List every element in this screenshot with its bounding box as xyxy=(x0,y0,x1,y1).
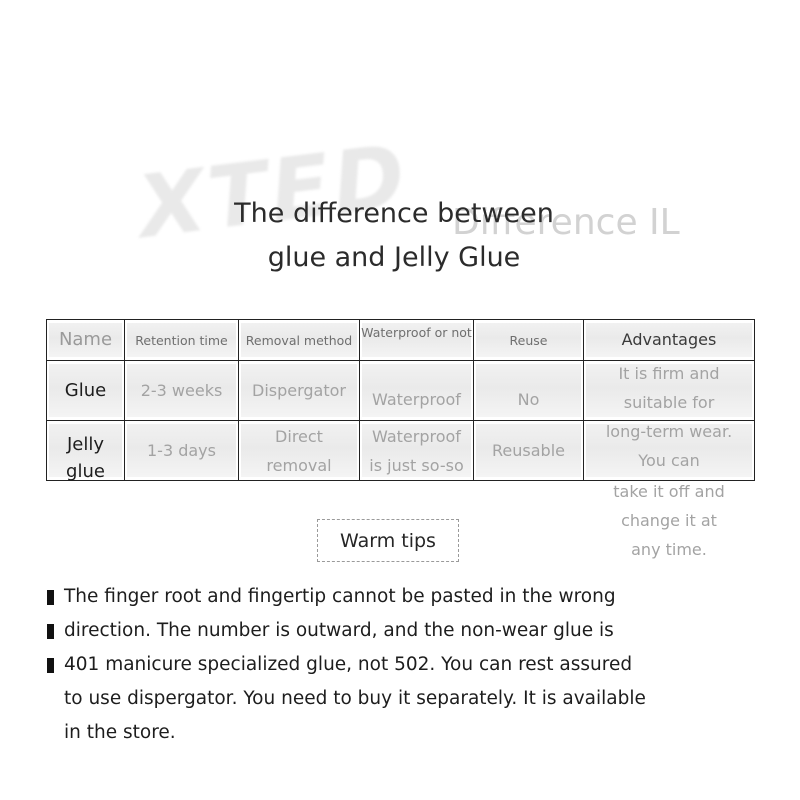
warm-tips-badge: Warm tips xyxy=(317,519,459,562)
value-removal-jelly-glue: Direct removal xyxy=(241,422,357,480)
table-header-cell-name: Name xyxy=(47,320,125,361)
cell-surface: long-term wear. You can take it off and … xyxy=(586,424,752,477)
cell-surface: Waterproof or not xyxy=(362,323,471,357)
infographic-page: XTED Difference IL The difference betwee… xyxy=(0,0,800,800)
cell-surface: It is firm and suitable for xyxy=(586,364,752,417)
tips-line: The finger root and fingertip cannot be … xyxy=(64,580,684,614)
table-header-cell-reuse: Reuse xyxy=(474,320,584,361)
cell-surface: Waterproof is just so-so xyxy=(362,424,471,477)
table-header-row: Name Retention time Removal method Water… xyxy=(47,320,755,361)
value-name-jelly-glue: Jelly glue xyxy=(47,431,124,485)
cell-surface: Reusable xyxy=(476,424,581,477)
table-header-cell-removal-method: Removal method xyxy=(239,320,360,361)
cell-surface: Name xyxy=(49,323,122,357)
header-label-name: Name xyxy=(49,327,122,353)
cell-retention-glue: 2-3 weeks xyxy=(125,361,239,421)
value-waterproof-glue: Waterproof xyxy=(360,385,473,414)
cell-advantages-glue: It is firm and suitable for xyxy=(584,361,755,421)
cell-advantages-jelly-glue: long-term wear. You can take it off and … xyxy=(584,421,755,481)
cell-surface: Jelly glue xyxy=(49,424,122,477)
tips-line-text: to use dispergator. You need to buy it s… xyxy=(64,688,646,709)
page-title: The difference between glue and Jelly Gl… xyxy=(100,192,688,280)
value-waterproof-jelly-glue: Waterproof is just so-so xyxy=(362,422,471,480)
table-header-cell-advantages: Advantages xyxy=(584,320,755,361)
tips-line: in the store. xyxy=(64,716,684,750)
tips-line-text: 401 manicure specialized glue, not 502. … xyxy=(64,654,632,675)
header-label-retention-time: Retention time xyxy=(127,332,236,349)
tips-line: 401 manicure specialized glue, not 502. … xyxy=(64,648,684,682)
value-retention-jelly-glue: 1-3 days xyxy=(127,436,236,465)
cell-waterproof-jelly-glue: Waterproof is just so-so xyxy=(360,421,474,481)
tips-line-text: direction. The number is outward, and th… xyxy=(64,620,614,641)
bullet-marker-icon xyxy=(47,590,54,605)
tips-line-text: in the store. xyxy=(64,722,176,743)
cell-reuse-jelly-glue: Reusable xyxy=(474,421,584,481)
tips-paragraph: The finger root and fingertip cannot be … xyxy=(64,580,684,750)
warm-tips-label: Warm tips xyxy=(340,530,436,552)
value-reuse-jelly-glue: Reusable xyxy=(476,436,581,465)
cell-surface: Dispergator xyxy=(241,364,357,417)
header-label-removal-method: Removal method xyxy=(241,332,357,349)
cell-surface: Advantages xyxy=(586,323,752,357)
value-removal-glue: Dispergator xyxy=(241,376,357,405)
table-row: Glue 2-3 weeks Dispergator Waterproof xyxy=(47,361,755,421)
cell-surface: Removal method xyxy=(241,323,357,357)
cell-retention-jelly-glue: 1-3 days xyxy=(125,421,239,481)
value-name-glue: Glue xyxy=(49,377,122,404)
cell-reuse-glue: No xyxy=(474,361,584,421)
cell-waterproof-glue: Waterproof xyxy=(360,361,474,421)
value-reuse-glue: No xyxy=(474,385,583,414)
cell-name-glue: Glue xyxy=(47,361,125,421)
cell-surface: No xyxy=(476,364,581,417)
table-header-cell-waterproof: Waterproof or not xyxy=(360,320,474,361)
cell-surface: 2-3 weeks xyxy=(127,364,236,417)
bullet-marker-icon xyxy=(47,658,54,673)
cell-removal-jelly-glue: Direct removal xyxy=(239,421,360,481)
bullet-marker-icon xyxy=(47,624,54,639)
header-label-waterproof: Waterproof or not xyxy=(360,324,473,341)
cell-surface: 1-3 days xyxy=(127,424,236,477)
table-header-cell-retention-time: Retention time xyxy=(125,320,239,361)
cell-surface: Retention time xyxy=(127,323,236,357)
value-advantages-overflow: take it off and change it at any time. xyxy=(584,477,754,564)
page-title-line-2: glue and Jelly Glue xyxy=(100,236,688,280)
tips-line: direction. The number is outward, and th… xyxy=(64,614,684,648)
tips-line-text: The finger root and fingertip cannot be … xyxy=(64,586,616,607)
cell-surface: Glue xyxy=(49,364,122,417)
cell-surface: Waterproof xyxy=(362,364,471,417)
tips-line: to use dispergator. You need to buy it s… xyxy=(64,682,684,716)
value-advantages-jelly-glue: long-term wear. You can xyxy=(584,417,754,475)
cell-removal-glue: Dispergator xyxy=(239,361,360,421)
cell-surface: Direct removal xyxy=(241,424,357,477)
header-label-reuse: Reuse xyxy=(476,332,581,349)
table-row: Jelly glue 1-3 days Direct removal Water… xyxy=(47,421,755,481)
value-retention-glue: 2-3 weeks xyxy=(127,376,236,405)
page-title-line-1: The difference between xyxy=(100,192,688,236)
value-advantages-glue: It is firm and suitable for xyxy=(584,359,754,417)
comparison-table: Name Retention time Removal method Water… xyxy=(46,319,755,481)
cell-surface: Reuse xyxy=(476,323,581,357)
header-label-advantages: Advantages xyxy=(586,327,752,353)
cell-name-jelly-glue: Jelly glue xyxy=(47,421,125,481)
